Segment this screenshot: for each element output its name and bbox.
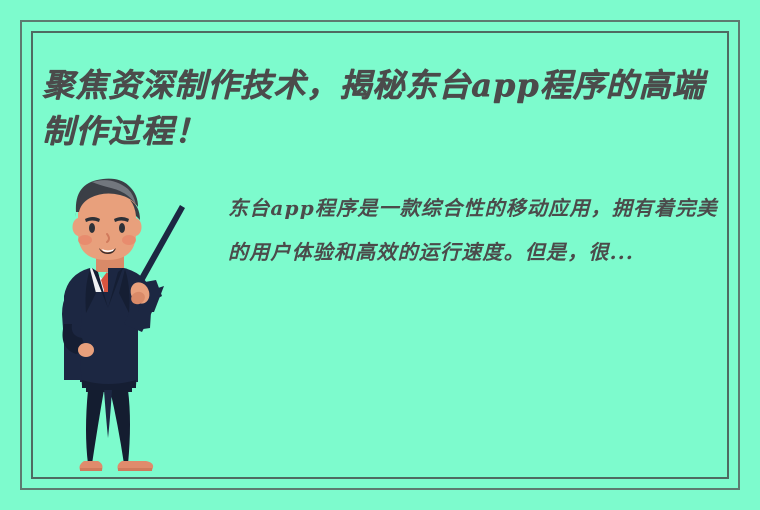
businessman-with-pointer-illustration	[52, 172, 230, 490]
article-excerpt: 东台app程序是一款综合性的移动应用，拥有着完美的用户体验和高效的运行速度。但是…	[228, 186, 720, 274]
article-card: 聚焦资深制作技术，揭秘东台app程序的高端制作过程！ 东台app程序是一款综合性…	[0, 0, 760, 510]
page-title: 聚焦资深制作技术，揭秘东台app程序的高端制作过程！	[42, 62, 718, 154]
